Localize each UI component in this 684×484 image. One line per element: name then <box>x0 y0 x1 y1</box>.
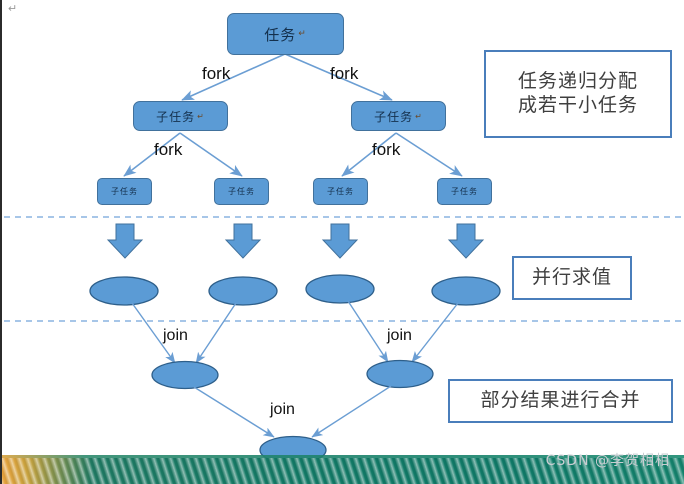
fork-label-3: fork <box>154 140 182 160</box>
task-node-level2-right-label: 子任务 <box>374 108 413 125</box>
eval-ellipse-3 <box>306 275 374 303</box>
join-label-left: join <box>163 327 188 345</box>
callout-merge-results-line1: 部分结果进行合并 <box>480 389 640 413</box>
block-arrow-1 <box>108 224 142 258</box>
task-node-root-label: 任务 <box>264 24 296 45</box>
callout-parallel-eval-line1: 并行求值 <box>532 266 612 290</box>
task-node-root[interactable]: 任务↵ <box>227 13 344 55</box>
fork-label-1: fork <box>202 64 230 84</box>
block-arrow-2 <box>226 224 260 258</box>
task-node-level3-2[interactable]: 子任务 <box>214 178 269 205</box>
merge-ellipse-left <box>152 362 218 389</box>
eval-ellipse-2 <box>209 277 277 305</box>
task-node-level2-left[interactable]: 子任务↵ <box>133 101 228 131</box>
paragraph-mark-icon: ↵ <box>8 2 17 15</box>
task-node-level2-left-mark: ↵ <box>197 112 205 121</box>
block-arrow-4 <box>449 224 483 258</box>
task-node-level3-4[interactable]: 子任务 <box>437 178 492 205</box>
callout-recursive-split-line1: 任务递归分配 <box>518 70 638 94</box>
task-node-level3-3[interactable]: 子任务 <box>313 178 368 205</box>
fork-label-4: fork <box>372 140 400 160</box>
task-node-level2-right[interactable]: 子任务↵ <box>351 101 446 131</box>
eval-ellipse-4 <box>432 277 500 305</box>
csdn-watermark: CSDN @李贺相相 <box>546 450 670 470</box>
task-node-level3-1-label: 子任务 <box>111 186 138 197</box>
task-node-level2-left-label: 子任务 <box>156 108 195 125</box>
eval-ellipse-1 <box>90 277 158 305</box>
join-label-right: join <box>387 327 412 345</box>
callout-recursive-split-line2: 成若干小任务 <box>518 94 638 118</box>
task-node-level3-1[interactable]: 子任务 <box>97 178 152 205</box>
task-node-level3-3-label: 子任务 <box>327 186 354 197</box>
callout-merge-results: 部分结果进行合并 <box>448 379 673 423</box>
join-label-final: join <box>270 401 295 419</box>
callout-parallel-eval: 并行求值 <box>512 256 632 300</box>
fork-label-2: fork <box>330 64 358 84</box>
diagram-canvas: ↵ <box>0 0 684 484</box>
task-node-root-mark: ↵ <box>298 29 307 39</box>
task-node-level3-4-label: 子任务 <box>451 186 478 197</box>
task-node-level3-2-label: 子任务 <box>228 186 255 197</box>
callout-recursive-split: 任务递归分配 成若干小任务 <box>484 50 672 138</box>
task-node-level2-right-mark: ↵ <box>415 112 423 121</box>
merge-ellipse-right <box>367 361 433 388</box>
block-arrow-3 <box>323 224 357 258</box>
